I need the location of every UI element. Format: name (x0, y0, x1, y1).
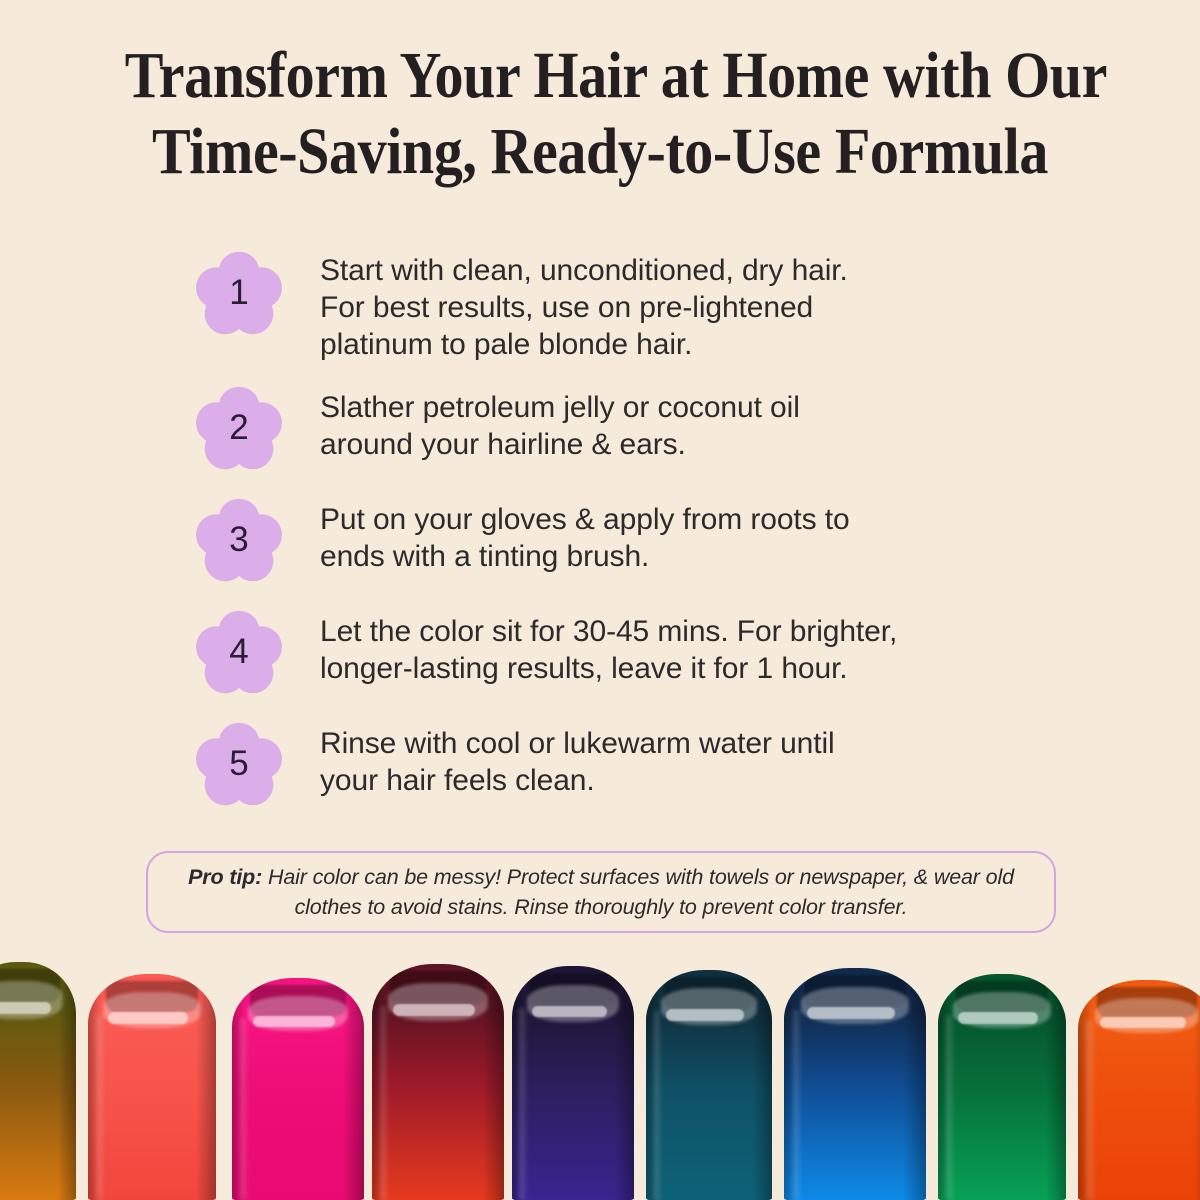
bottle-gloss-streak (0, 1002, 51, 1014)
instruction-steps-list: 1 Start with clean, unconditioned, dry h… (196, 248, 1096, 807)
step-number-1: 1 (196, 250, 282, 336)
pro-tip-body: Hair color can be messy! Protect surface… (262, 865, 1014, 919)
page-title: Transform Your Hair at Home with Our Tim… (0, 38, 1200, 190)
title-line-2: Time-Saving, Ready-to-Use Formula (125, 114, 1075, 190)
step-number-5: 5 (196, 721, 282, 807)
step-2-line-1: Slather petroleum jelly or coconut oil (320, 389, 1096, 426)
step-number-2: 2 (196, 385, 282, 471)
step-number-4: 4 (196, 609, 282, 695)
step-badge-3: 3 (196, 497, 282, 583)
bottle-gloss-streak (393, 1004, 475, 1016)
bottle-left-shading (232, 978, 245, 1200)
step-number-3: 3 (196, 497, 282, 583)
bottle-gloss-streak (532, 1006, 608, 1018)
emerald-green-bottle (938, 974, 1066, 1200)
pro-tip-text: Pro tip: Hair color can be messy! Protec… (174, 862, 1028, 922)
step-badge-5: 5 (196, 721, 282, 807)
step-2-line-2: around your hairline & ears. (320, 426, 1096, 463)
step-1-line-2: For best results, use on pre-lightened (320, 289, 1096, 326)
indigo-violet-bottle (512, 966, 634, 1200)
bottle-left-shading (646, 970, 659, 1200)
bottle-left-shading (938, 974, 951, 1200)
list-item-step-3: 3 Put on your gloves & apply from roots … (196, 497, 1096, 583)
bottle-right-shading (196, 974, 216, 1200)
bottle-gloss-streak (1100, 1017, 1186, 1028)
bottle-left-shading (784, 968, 798, 1200)
step-badge-1: 1 (196, 250, 282, 336)
step-5-line-1: Rinse with cool or lukewarm water until (320, 725, 1096, 762)
coral-red-bottle (88, 974, 216, 1200)
bottle-right-shading (752, 970, 772, 1200)
step-badge-4: 4 (196, 609, 282, 695)
poster-canvas: Transform Your Hair at Home with Our Tim… (0, 0, 1200, 1200)
step-1-line-1: Start with clean, unconditioned, dry hai… (320, 252, 1096, 289)
bottle-right-shading (614, 966, 634, 1200)
burgundy-red-bottle (372, 964, 504, 1200)
pro-tip-label: Pro tip: (188, 865, 262, 889)
list-item-step-1: 1 Start with clean, unconditioned, dry h… (196, 248, 1096, 363)
pro-tip-box: Pro tip: Hair color can be messy! Protec… (146, 851, 1056, 933)
bottle-left-shading (512, 966, 524, 1200)
step-text-1: Start with clean, unconditioned, dry hai… (320, 248, 1096, 363)
step-text-3: Put on your gloves & apply from roots to… (320, 497, 1096, 575)
step-text-5: Rinse with cool or lukewarm water until … (320, 721, 1096, 799)
step-badge-2: 2 (196, 385, 282, 471)
bottle-right-shading (483, 964, 504, 1200)
bottle-gloss-streak (253, 1016, 335, 1027)
title-line-1: Transform Your Hair at Home with Our (125, 38, 1075, 114)
orange-bottle (1078, 980, 1200, 1200)
product-bottles-image (0, 952, 1200, 1200)
bottle-right-shading (1046, 974, 1066, 1200)
bottle-left-shading (372, 964, 385, 1200)
navy-blue-bottle (784, 968, 926, 1200)
step-3-line-2: ends with a tinting brush. (320, 538, 1096, 575)
bottle-right-shading (903, 968, 926, 1200)
bottle-left-shading (1078, 980, 1092, 1200)
bottle-right-shading (343, 978, 364, 1200)
step-5-line-2: your hair feels clean. (320, 762, 1096, 799)
bottle-gloss-streak (807, 1007, 895, 1019)
step-text-2: Slather petroleum jelly or coconut oil a… (320, 385, 1096, 463)
step-4-line-2: longer-lasting results, leave it for 1 h… (320, 650, 1096, 687)
magenta-pink-bottle (232, 978, 364, 1200)
bottle-gloss-streak (666, 1009, 744, 1021)
teal-blue-bottle (646, 970, 772, 1200)
bottle-left-shading (88, 974, 101, 1200)
list-item-step-4: 4 Let the color sit for 30-45 mins. For … (196, 609, 1096, 695)
bottle-right-shading (1194, 980, 1200, 1200)
list-item-step-5: 5 Rinse with cool or lukewarm water unti… (196, 721, 1096, 807)
olive-orange-bottle (0, 962, 76, 1200)
list-item-step-2: 2 Slather petroleum jelly or coconut oil… (196, 385, 1096, 471)
step-text-4: Let the color sit for 30-45 mins. For br… (320, 609, 1096, 687)
bottle-right-shading (58, 962, 76, 1200)
step-4-line-1: Let the color sit for 30-45 mins. For br… (320, 613, 1096, 650)
step-3-line-1: Put on your gloves & apply from roots to (320, 501, 1096, 538)
bottle-gloss-streak (958, 1012, 1037, 1023)
step-1-line-3: platinum to pale blonde hair. (320, 326, 1096, 363)
bottle-gloss-streak (108, 1012, 187, 1023)
